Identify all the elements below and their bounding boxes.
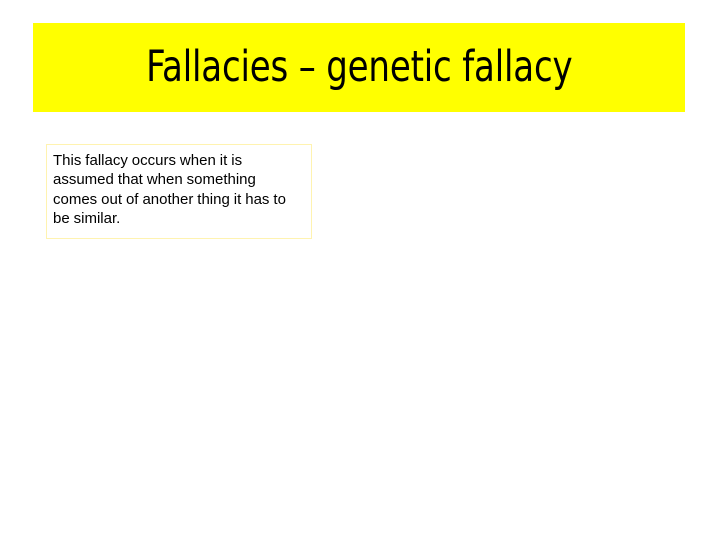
page-title: Fallacies – genetic fallacy: [146, 46, 572, 89]
title-banner: Fallacies – genetic fallacy: [33, 23, 685, 112]
body-text: This fallacy occurs when it is assumed t…: [47, 145, 311, 229]
slide-canvas: Fallacies – genetic fallacy This fallacy…: [0, 0, 720, 540]
body-textbox[interactable]: This fallacy occurs when it is assumed t…: [46, 144, 312, 239]
slide-content-area: [0, 250, 720, 540]
